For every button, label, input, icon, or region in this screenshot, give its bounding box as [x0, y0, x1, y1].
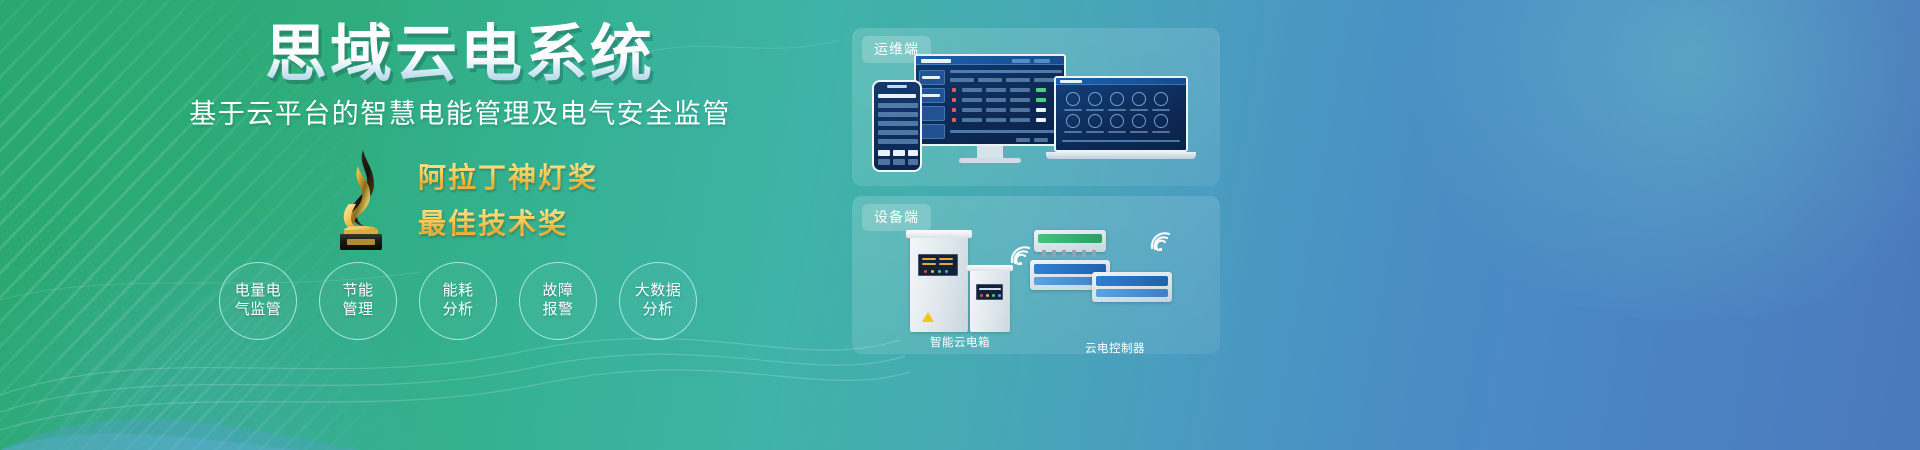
badge-label-line1: 故障	[542, 282, 573, 301]
award-line-2: 最佳技术奖	[418, 202, 598, 242]
page-title: 思域云电系统	[0, 22, 860, 89]
decorative-glow-top-right	[1340, 0, 1920, 320]
controller-icon: 云电控制器	[1030, 226, 1200, 334]
badge-label-line2: 分析	[442, 301, 473, 320]
award-text-block: 阿拉丁神灯奖 最佳技术奖	[418, 156, 598, 242]
wifi-icon	[1148, 230, 1174, 252]
badge-label-line1: 能耗	[442, 282, 473, 301]
badge-label-line1: 电量电	[235, 282, 282, 301]
page-subtitle: 基于云平台的智慧电能管理及电气安全监管	[0, 92, 860, 131]
trophy-icon	[322, 146, 402, 251]
laptop-icon	[1048, 76, 1194, 159]
badge-label-line1: 大数据	[635, 282, 682, 301]
device-panel: 设备端	[852, 196, 1220, 354]
badge-label-line2: 管理	[342, 301, 373, 320]
feature-badge[interactable]: 大数据分析	[619, 262, 697, 340]
controller-caption: 云电控制器	[1030, 340, 1200, 356]
feature-badge[interactable]: 故障报警	[519, 262, 597, 340]
badge-label-line2: 气监管	[235, 301, 282, 320]
feature-badge[interactable]: 能耗分析	[419, 262, 497, 340]
device-panel-tag: 设备端	[862, 204, 931, 231]
cabinet-icon: 智能云电箱	[900, 228, 1020, 332]
badge-label-line2: 分析	[635, 301, 682, 320]
banner-right-panels: 运维端	[852, 18, 1232, 438]
award-section: 阿拉丁神灯奖 最佳技术奖	[0, 146, 860, 251]
ops-panel: 运维端	[852, 28, 1220, 186]
promo-banner: 思域云电系统 基于云平台的智慧电能管理及电气安全监管	[0, 0, 1920, 450]
banner-left-content: 思域云电系统 基于云平台的智慧电能管理及电气安全监管	[0, 0, 860, 450]
badge-label-line1: 节能	[342, 282, 373, 301]
award-line-1: 阿拉丁神灯奖	[418, 156, 598, 196]
feature-badge[interactable]: 电量电气监管	[219, 262, 297, 340]
feature-badge-list: 电量电气监管 节能管理 能耗分析 故障报警 大数据分析	[0, 262, 860, 340]
monitor-icon	[914, 54, 1066, 163]
badge-label-line2: 报警	[542, 301, 573, 320]
cabinet-caption: 智能云电箱	[900, 334, 1020, 350]
feature-badge[interactable]: 节能管理	[319, 262, 397, 340]
phone-icon	[872, 80, 922, 172]
